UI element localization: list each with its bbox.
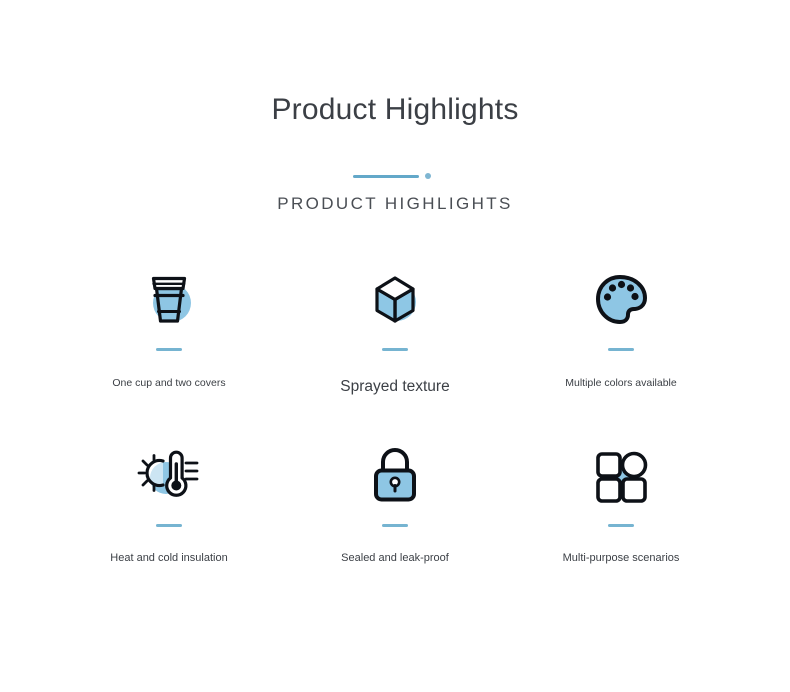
- title-divider: [353, 172, 437, 180]
- page-title: Product Highlights: [0, 92, 790, 128]
- feature-label: Multiple colors available: [565, 377, 676, 391]
- feature-dash: [608, 524, 634, 527]
- coffee-cup-with-lid-icon: [131, 262, 207, 338]
- divider-bar: [353, 175, 419, 178]
- feature-card-sealed-and-leak-proof[interactable]: Sealed and leak-proof: [282, 438, 508, 614]
- feature-dash: [156, 524, 182, 527]
- page-header: Product Highlights PRODUCT HIGHLIGHTS: [0, 0, 790, 214]
- feature-label: Sprayed texture: [340, 377, 449, 397]
- paint-palette-icon: [583, 262, 659, 338]
- feature-card-sprayed-texture[interactable]: Sprayed texture: [282, 262, 508, 438]
- feature-label: Heat and cold insulation: [110, 551, 227, 565]
- thermometer-sun-icon: [131, 438, 207, 514]
- feature-card-multiple-colors-available[interactable]: Multiple colors available: [508, 262, 734, 438]
- four-shape-grid-icon: [583, 438, 659, 514]
- divider-dot: [425, 173, 431, 179]
- feature-label: One cup and two covers: [112, 377, 225, 391]
- feature-dash: [156, 348, 182, 351]
- isometric-box-icon: [357, 262, 433, 338]
- feature-dash: [382, 524, 408, 527]
- padlock-icon: [357, 438, 433, 514]
- feature-dash: [608, 348, 634, 351]
- feature-card-multi-purpose-scenarios[interactable]: Multi-purpose scenarios: [508, 438, 734, 614]
- product-highlights-page: Product Highlights PRODUCT HIGHLIGHTS: [0, 0, 790, 692]
- feature-grid: One cup and two covers Sprayed texture: [0, 262, 790, 614]
- page-subtitle: PRODUCT HIGHLIGHTS: [0, 194, 790, 214]
- feature-card-heat-and-cold-insulation[interactable]: Heat and cold insulation: [56, 438, 282, 614]
- feature-label: Sealed and leak-proof: [341, 551, 449, 565]
- feature-card-one-cup-and-two-covers[interactable]: One cup and two covers: [56, 262, 282, 438]
- feature-dash: [382, 348, 408, 351]
- feature-label: Multi-purpose scenarios: [563, 551, 680, 565]
